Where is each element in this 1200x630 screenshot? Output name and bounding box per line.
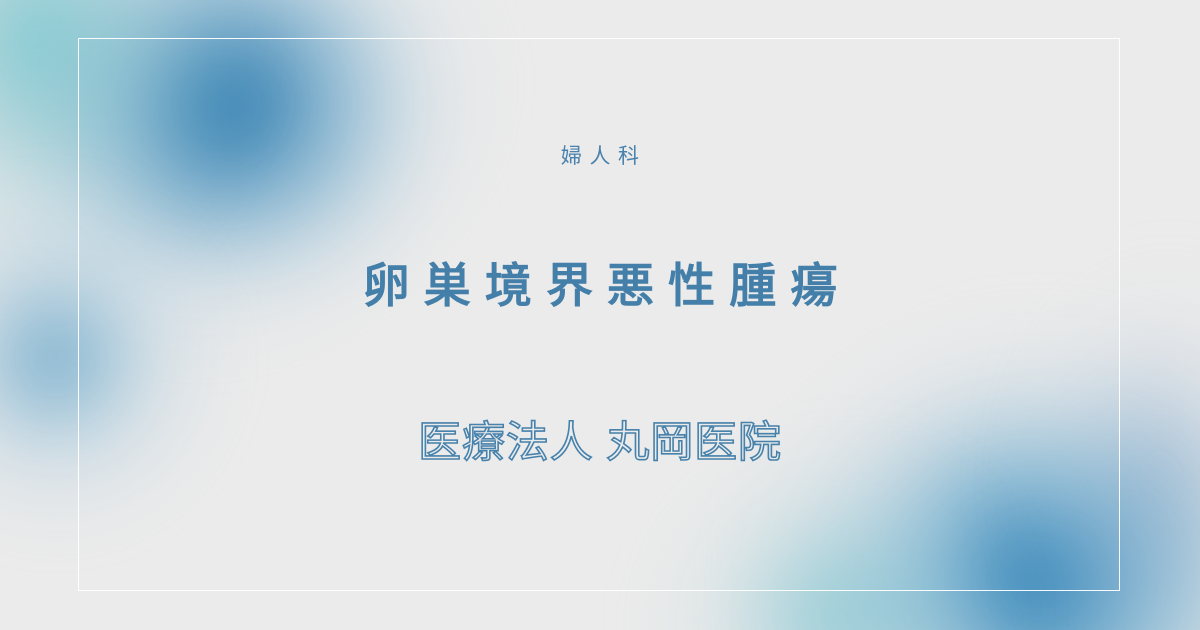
card-content: 婦人科 卵巣境界悪性腫瘍 医療法人 丸岡医院 [0,0,1200,630]
title-card: 婦人科 卵巣境界悪性腫瘍 医療法人 丸岡医院 [0,0,1200,630]
organization-name: 医療法人 丸岡医院 [418,419,782,468]
category-label: 婦人科 [553,146,646,167]
page-title: 卵巣境界悪性腫瘍 [349,260,852,312]
